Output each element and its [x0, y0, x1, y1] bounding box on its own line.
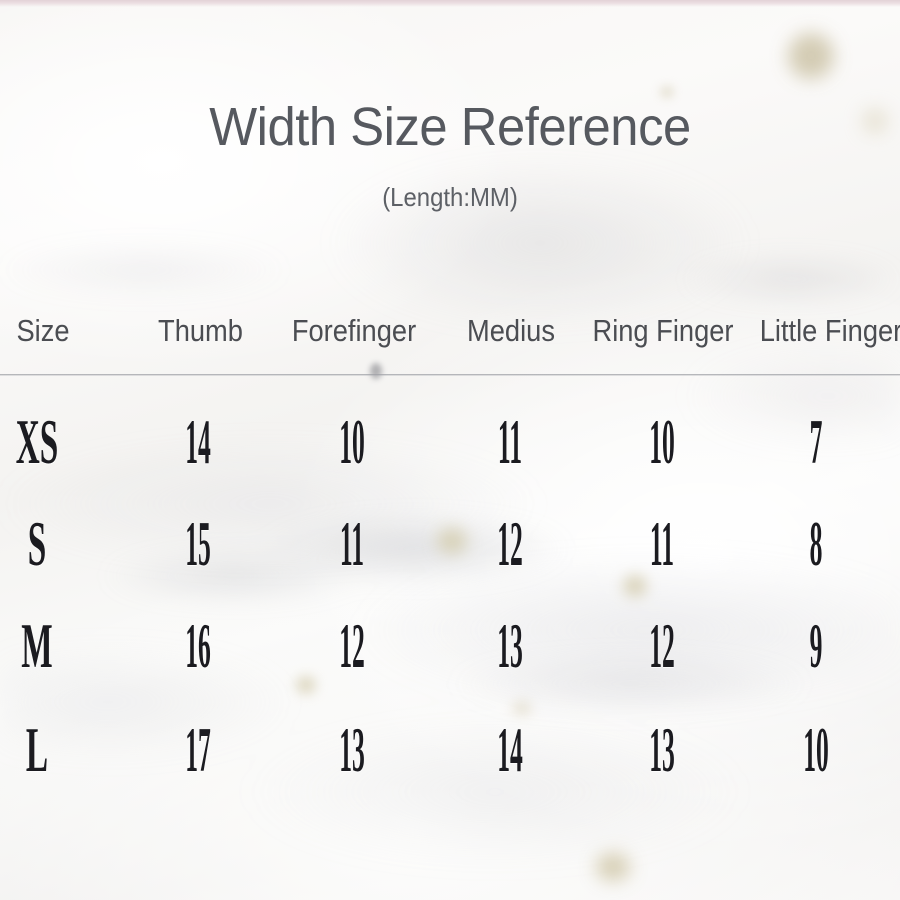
table-row-xs-ring-finger: 10	[622, 410, 702, 474]
table-row-l-thumb: 17	[158, 718, 238, 782]
table-row-l-little-finger: 10	[776, 718, 856, 782]
table-header-row: Size Thumb Forefinger Medius Ring Finger…	[0, 312, 900, 358]
table-row-m-medius: 13	[470, 614, 550, 678]
table-row-xs-size: XS	[0, 410, 89, 474]
table-row-m-thumb: 16	[158, 614, 238, 678]
table-row-s-size: S	[0, 512, 89, 576]
table-row-s-thumb: 15	[158, 512, 238, 576]
table-row-s-ring-finger: 11	[622, 512, 702, 576]
table-row-xs-little-finger: 7	[776, 410, 856, 474]
column-header-size: Size	[0, 312, 91, 350]
page-title: Width Size Reference	[27, 96, 873, 158]
table-row-l-size: L	[0, 718, 89, 782]
size-reference-chart: Width Size Reference (Length:MM) Size Th…	[0, 0, 900, 900]
table-row-s-medius: 12	[470, 512, 550, 576]
chart-content: Width Size Reference (Length:MM) Size Th…	[0, 0, 900, 900]
table-row-m-ring-finger: 12	[622, 614, 702, 678]
table-row-xs-forefinger: 10	[312, 410, 392, 474]
header-divider	[0, 374, 900, 376]
table-row-m-little-finger: 9	[776, 614, 856, 678]
column-header-little-finger: Little Finger	[753, 312, 900, 350]
column-header-medius: Medius	[455, 312, 568, 350]
table-row-xs-thumb: 14	[158, 410, 238, 474]
column-header-thumb: Thumb	[150, 312, 251, 350]
table-row-m-forefinger: 12	[312, 614, 392, 678]
table-row-l-medius: 14	[470, 718, 550, 782]
column-header-ring-finger: Ring Finger	[587, 312, 738, 350]
page-subtitle: (Length:MM)	[36, 182, 864, 213]
table-row-s-little-finger: 8	[776, 512, 856, 576]
table-row-s-forefinger: 11	[312, 512, 392, 576]
table-row-l-ring-finger: 13	[622, 718, 702, 782]
column-header-forefinger: Forefinger	[278, 312, 429, 350]
table-row-l-forefinger: 13	[312, 718, 392, 782]
table-row-xs-medius: 11	[470, 410, 550, 474]
table-row-m-size: M	[0, 614, 89, 678]
